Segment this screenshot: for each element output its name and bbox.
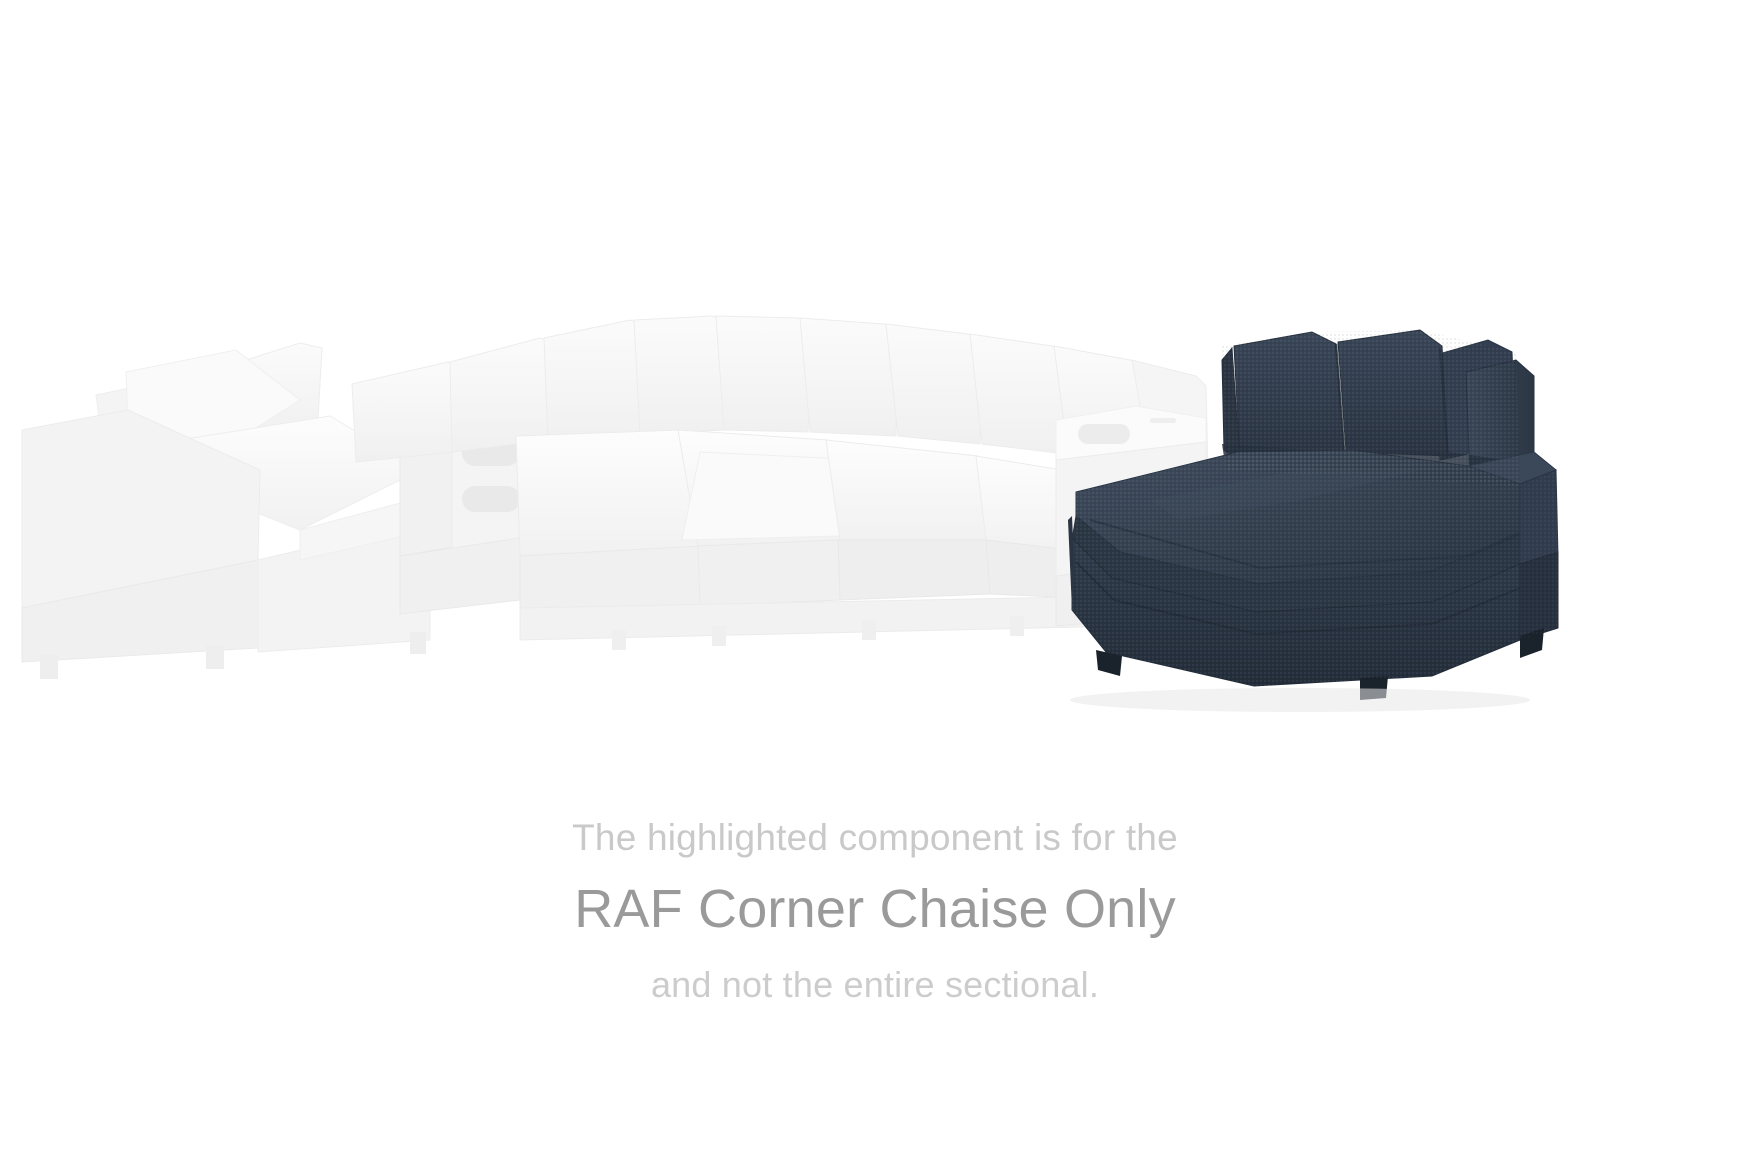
cup-holder-bottom bbox=[462, 486, 520, 512]
page-root: The highlighted component is for the RAF… bbox=[0, 0, 1750, 1167]
caption-line-2-component-name: RAF Corner Chaise Only bbox=[0, 877, 1750, 942]
product-image bbox=[0, 0, 1750, 800]
caption-block: The highlighted component is for the RAF… bbox=[0, 815, 1750, 1007]
caption-line-1: The highlighted component is for the bbox=[0, 815, 1750, 861]
ghosted-sectional bbox=[22, 316, 1208, 679]
ghost-seat-platform bbox=[516, 430, 1122, 650]
sectional-illustration bbox=[0, 0, 1750, 800]
caption-line-3: and not the entire sectional. bbox=[0, 962, 1750, 1007]
cup-holder-right bbox=[1078, 424, 1130, 444]
